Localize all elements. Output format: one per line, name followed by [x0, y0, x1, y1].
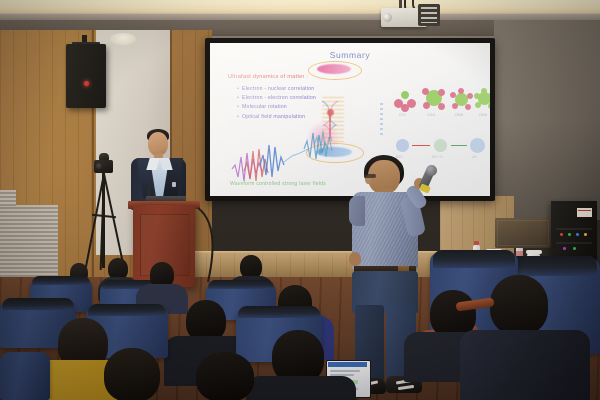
audience-head — [196, 352, 254, 400]
projection-screen: Summary Ultrafast dynamics of matter : •… — [210, 43, 490, 196]
rack-slot — [556, 242, 592, 244]
reaction-arrow-icon — [451, 145, 467, 146]
rack-warning-label — [577, 208, 592, 217]
slide-title: Summary — [210, 50, 490, 60]
audience-head — [104, 348, 160, 400]
slide-bullet-list: •Electron - nuclear correlation •Electro… — [237, 85, 316, 122]
seat-backrest-top — [88, 304, 166, 316]
molecule-label: C2H4 — [427, 113, 435, 117]
audience-head — [490, 275, 548, 335]
seat-backrest-top — [238, 306, 320, 318]
laptop-text-line — [330, 370, 360, 372]
reaction-node — [434, 139, 447, 152]
slide-ladder-graphic — [380, 103, 383, 137]
bullet-marker-icon: • — [237, 95, 239, 101]
microphone-head-icon — [426, 165, 437, 176]
audience-shoulders — [246, 376, 356, 400]
projector-mount-bracket — [418, 4, 440, 26]
ceiling-light-glow — [0, 0, 600, 13]
podium-cable — [196, 206, 232, 284]
bullet-marker-icon: • — [237, 104, 239, 110]
questioner-hand — [349, 252, 361, 266]
reaction-node — [470, 138, 485, 153]
camera-lens-icon — [96, 163, 103, 170]
bullet-text: Molecular rotation — [242, 104, 287, 110]
cup-lid — [526, 250, 542, 254]
louvre-vent-panel — [0, 205, 58, 283]
seat-backrest-top — [2, 298, 74, 310]
rack-status-led-icon — [560, 233, 563, 236]
list-item: •Electron - electron correlation — [237, 94, 316, 103]
rack-status-led-icon — [563, 247, 566, 250]
seat-backrest-top — [433, 250, 515, 268]
reaction-label: OH — [472, 155, 477, 159]
rack-status-led-icon — [568, 233, 571, 236]
speaker-power-led-icon — [84, 81, 89, 86]
ceiling-downlight — [110, 33, 136, 45]
louvre-vent-panel — [0, 190, 16, 206]
molecule-label: C6H6 — [479, 113, 487, 117]
list-item: •Electron - nuclear correlation — [237, 85, 316, 94]
seat-backrest-top — [32, 276, 90, 285]
rack-status-led-icon — [584, 233, 587, 236]
questioner-shoulder — [349, 196, 365, 226]
molecule-label: C5H6 — [455, 113, 463, 117]
bullet-text: Optical field manipulation — [242, 114, 305, 120]
list-item: •Molecular rotation — [237, 103, 316, 112]
slide-heading: Ultrafast dynamics of matter : — [228, 74, 308, 80]
bullet-marker-icon: • — [237, 86, 239, 92]
list-item: •Optical field manipulation — [237, 113, 316, 122]
rack-status-led-icon — [573, 247, 576, 250]
reaction-node — [396, 139, 409, 152]
audience-shoulders — [460, 330, 590, 400]
bullet-text: Electron - electron correlation — [242, 95, 316, 101]
storage-crate — [495, 218, 551, 248]
slide-ring-core — [317, 64, 351, 74]
molecule-label: CO2 — [399, 113, 406, 117]
bottle-cap — [474, 241, 479, 245]
reaction-arrow-icon — [412, 145, 430, 146]
reaction-label: HO + H — [432, 155, 443, 159]
slide-waveform-graphic — [230, 129, 342, 187]
seat-backrest-top — [208, 280, 274, 289]
bullet-marker-icon: • — [237, 114, 239, 120]
bullet-text: Electron - nuclear correlation — [242, 86, 314, 92]
slide-footer: Waveform controlled strong laser fields — [230, 181, 326, 187]
presenter-badge — [172, 182, 176, 187]
laptop-title-bar — [328, 362, 367, 367]
rack-slot — [556, 228, 592, 230]
projector-lens-icon — [383, 13, 392, 22]
auditorium-seat[interactable] — [0, 352, 50, 400]
auditorium-photo: Summary Ultrafast dynamics of matter : •… — [0, 0, 600, 400]
questioner-glasses — [364, 174, 376, 178]
wall-speaker — [66, 44, 106, 108]
rack-status-led-icon — [576, 233, 579, 236]
